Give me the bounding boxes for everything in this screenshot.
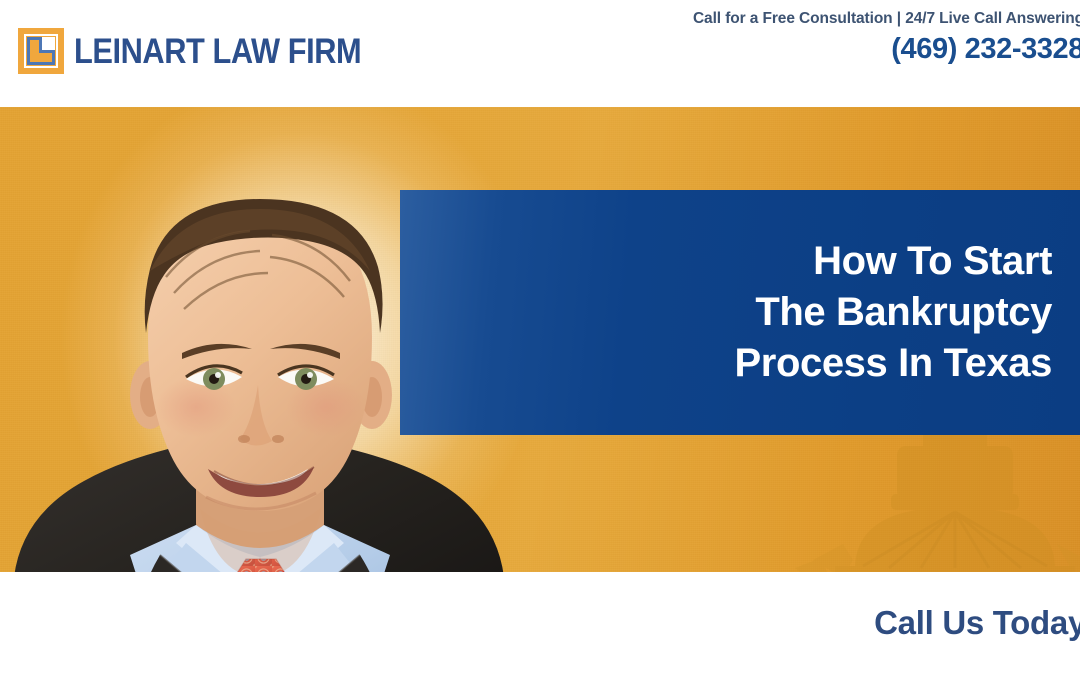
footer-bar: Call Us Today [0,572,1080,675]
title-line-3: Process In Texas [735,338,1053,389]
header-phone-number[interactable]: (469) 232-3328 [693,34,1080,66]
page-title: How To Start The Bankruptcy Process In T… [735,236,1080,388]
brand-logo[interactable]: LEINART LAW FIRM [18,28,400,74]
title-line-1: How To Start [735,236,1053,287]
header-tagline: Call for a Free Consultation | 24/7 Live… [693,8,1080,30]
brand-name: LEINART LAW FIRM [74,34,361,69]
title-line-2: The Bankruptcy [735,287,1053,338]
call-us-today-cta[interactable]: Call Us Today [874,604,1080,642]
square-bracket-logo-icon [18,28,64,74]
header-contact: Call for a Free Consultation | 24/7 Live… [693,8,1080,66]
title-banner: How To Start The Bankruptcy Process In T… [400,190,1080,435]
site-header: LEINART LAW FIRM Call for a Free Consult… [0,0,1080,107]
video-thumbnail: LEINART LAW FIRM Call for a Free Consult… [0,0,1080,675]
